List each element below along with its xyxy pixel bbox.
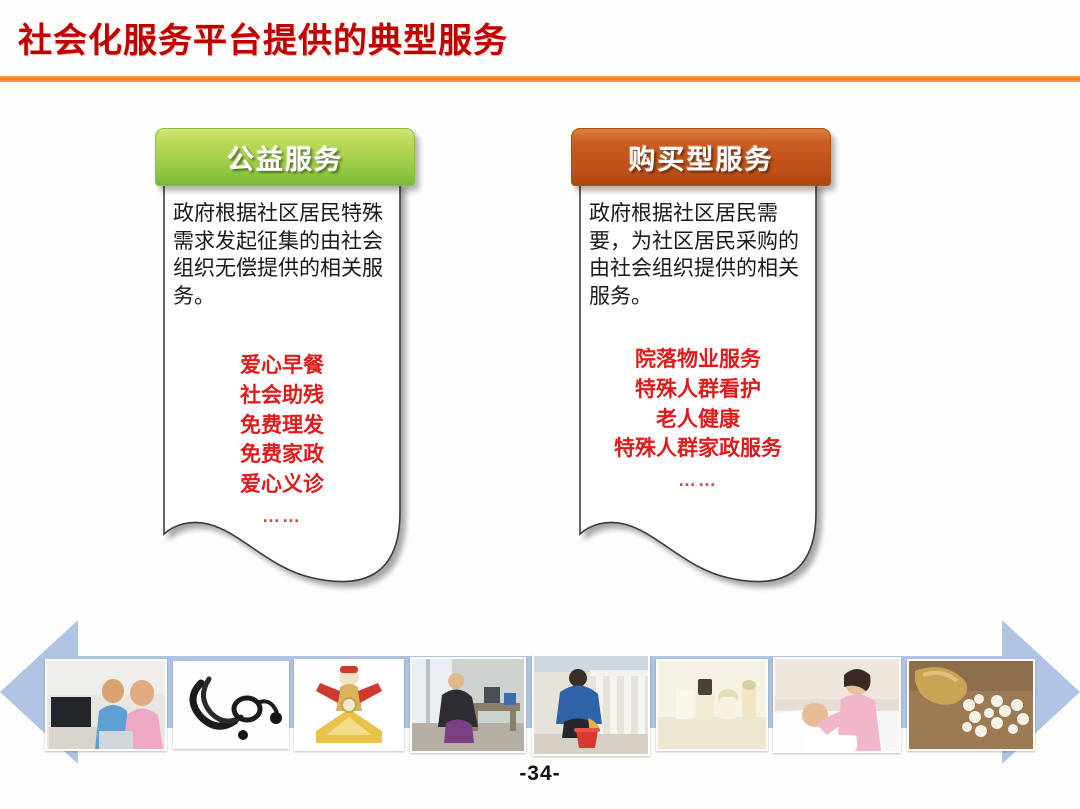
page-number: -34- [0, 762, 1080, 786]
card-header-label: 公益服务 [227, 138, 343, 177]
service-item: 免费家政 [173, 440, 391, 470]
photo-toiletries [656, 659, 768, 751]
photo-railing-cleaning-image [534, 656, 648, 754]
service-item: 免费理发 [173, 411, 391, 441]
card-body-public-welfare: 政府根据社区居民特殊需求发起征集的由社会组织无偿提供的相关服务。 爱心早餐 社会… [163, 182, 401, 642]
photo-home-visit-elderly-image [47, 661, 165, 749]
photo-toiletries-image [658, 661, 766, 749]
photo-golden-figurine-image [296, 661, 402, 749]
card-header-purchased-service: 购买型服务 [571, 128, 831, 186]
card-content-purchased-service: 政府根据社区居民需要，为社区居民采购的由社会组织提供的相关服务。 院落物业服务 … [579, 182, 817, 494]
service-item: 老人健康 [589, 405, 807, 435]
card-service-list: 爱心早餐 社会助残 免费理发 免费家政 爱心义诊 …… [173, 351, 391, 530]
photo-pills-sos-image [909, 661, 1033, 749]
photo-stethoscope-image [175, 663, 287, 747]
title-divider-rule [0, 76, 1080, 82]
card-description: 政府根据社区居民特殊需求发起征集的由社会组织无偿提供的相关服务。 [173, 200, 391, 311]
photo-housekeeping-cleaning-image [412, 659, 524, 751]
photo-home-visit-elderly [45, 659, 167, 751]
card-body-purchased-service: 政府根据社区居民需要，为社区居民采购的由社会组织提供的相关服务。 院落物业服务 … [579, 182, 817, 642]
service-item: 社会助残 [173, 381, 391, 411]
page-title: 社会化服务平台提供的典型服务 [18, 13, 508, 62]
service-list-ellipsis: …… [589, 468, 807, 494]
card-header-label: 购买型服务 [629, 138, 774, 177]
card-purchased-service: 购买型服务 政府根据社区居民需要，为社区居民采购的由社会组织提供的相关服务。 院… [571, 128, 829, 642]
photo-nurse-bedside-care [773, 657, 901, 753]
photo-pills-sos [907, 659, 1035, 751]
card-public-welfare-service: 公益服务 政府根据社区居民特殊需求发起征集的由社会组织无偿提供的相关服务。 爱心… [155, 128, 413, 642]
photo-strip [45, 654, 1035, 756]
service-list-ellipsis: …… [173, 504, 391, 530]
photo-stethoscope [173, 661, 289, 749]
card-description: 政府根据社区居民需要，为社区居民采购的由社会组织提供的相关服务。 [589, 200, 807, 311]
card-header-public-welfare: 公益服务 [155, 128, 415, 186]
service-item: 特殊人群看护 [589, 375, 807, 405]
service-item: 院落物业服务 [589, 345, 807, 375]
title-bar: 社会化服务平台提供的典型服务 [0, 0, 1080, 80]
service-item: 特殊人群家政服务 [589, 434, 807, 464]
photo-housekeeping-cleaning [410, 657, 526, 753]
slide-canvas: 社会化服务平台提供的典型服务 公益服务 政府根据社区居民特殊需求发起征集的由社会… [0, 0, 1080, 809]
photo-railing-cleaning [532, 654, 650, 756]
photo-golden-figurine [294, 659, 404, 751]
card-service-list: 院落物业服务 特殊人群看护 老人健康 特殊人群家政服务 …… [589, 345, 807, 494]
service-item: 爱心义诊 [173, 470, 391, 500]
service-item: 爱心早餐 [173, 351, 391, 381]
card-content-public-welfare: 政府根据社区居民特殊需求发起征集的由社会组织无偿提供的相关服务。 爱心早餐 社会… [163, 182, 401, 529]
photo-nurse-bedside-care-image [775, 659, 899, 751]
